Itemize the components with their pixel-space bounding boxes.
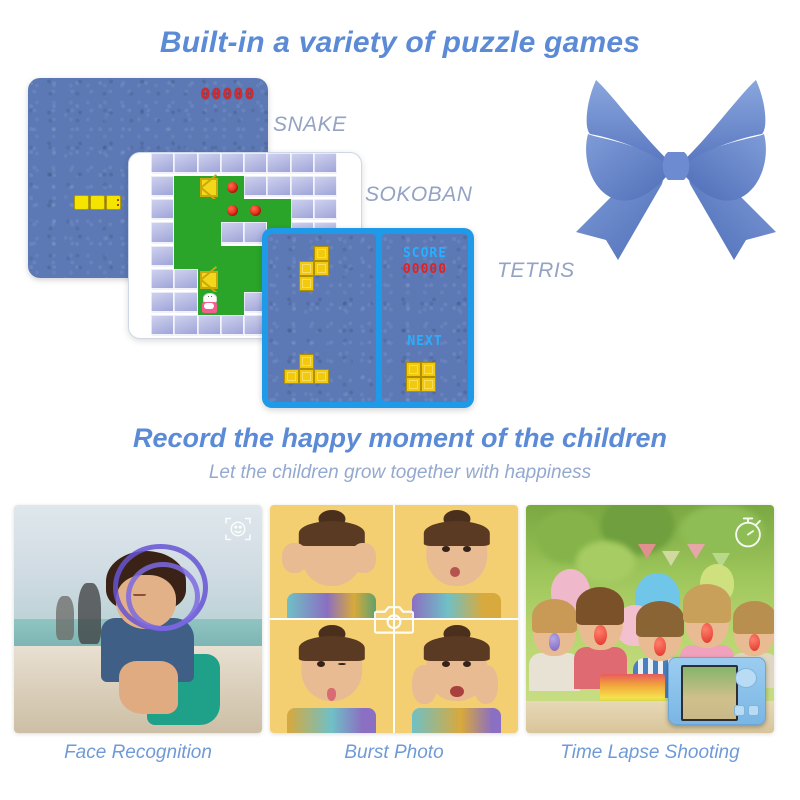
- tetris-score-label: SCORE: [382, 246, 468, 261]
- tetris-block: [299, 354, 314, 369]
- sokoban-crate: [200, 271, 219, 290]
- ribbon-bow-icon: [566, 72, 786, 262]
- game-label-snake: SNAKE: [273, 113, 347, 137]
- marketing-page: Built-in a variety of puzzle games 00000…: [0, 0, 800, 800]
- tetris-block: [314, 261, 329, 276]
- snake-segment: [74, 195, 89, 210]
- sokoban-player-sprite: [200, 293, 218, 313]
- face-detection-ring: [126, 562, 200, 631]
- tetris-block: [299, 276, 314, 291]
- camera-screen: [681, 665, 738, 720]
- tetris-block: [314, 369, 329, 384]
- party-child: [578, 594, 623, 685]
- tetris-next-block: [406, 377, 421, 392]
- sokoban-target: [227, 182, 238, 193]
- tetris-next-block: [406, 362, 421, 377]
- background-person: [56, 596, 73, 639]
- photo-face-recognition: [14, 505, 262, 733]
- sokoban-target: [227, 205, 238, 216]
- photo-time-lapse: [526, 505, 774, 733]
- section-title: Record the happy moment of the children: [0, 423, 800, 454]
- tetris-next-block: [421, 377, 436, 392]
- snake-head-segment: [106, 195, 121, 210]
- sokoban-crate: [200, 178, 219, 197]
- game-label-sokoban: SOKOBAN: [365, 183, 472, 207]
- camera-icon: [374, 602, 414, 636]
- party-child: [533, 605, 575, 687]
- caption-time-lapse: Time Lapse Shooting: [526, 742, 774, 764]
- tetris-block: [284, 369, 299, 384]
- caption-burst-photo: Burst Photo: [270, 742, 518, 764]
- stopwatch-icon: [731, 514, 765, 550]
- section-subtitle: Let the children grow together with happ…: [0, 462, 800, 484]
- page-title: Built-in a variety of puzzle games: [0, 26, 800, 60]
- burst-frame: [270, 620, 393, 733]
- tetris-block: [299, 369, 314, 384]
- tetris-sidebar: SCORE 00000 NEXT: [382, 234, 468, 402]
- caption-face-recognition: Face Recognition: [14, 742, 262, 764]
- tetris-block: [299, 261, 314, 276]
- snake-score-value: 00000: [201, 85, 256, 103]
- tetris-next-block: [421, 362, 436, 377]
- tetris-score-value: 00000: [382, 262, 468, 277]
- game-label-tetris: TETRIS: [497, 259, 575, 283]
- tetris-block: [314, 246, 329, 261]
- snake-segment: [90, 195, 105, 210]
- snake-sprite: [74, 195, 121, 210]
- game-screen-tetris: SCORE 00000 NEXT: [262, 228, 474, 408]
- photo-burst: [270, 505, 518, 733]
- kids-camera-device: [668, 657, 766, 725]
- tetris-playfield: [268, 234, 376, 402]
- sokoban-target: [250, 205, 261, 216]
- smiley-face-detect-icon: [223, 514, 253, 544]
- burst-frame: [395, 620, 518, 733]
- tetris-next-label: NEXT: [382, 334, 468, 349]
